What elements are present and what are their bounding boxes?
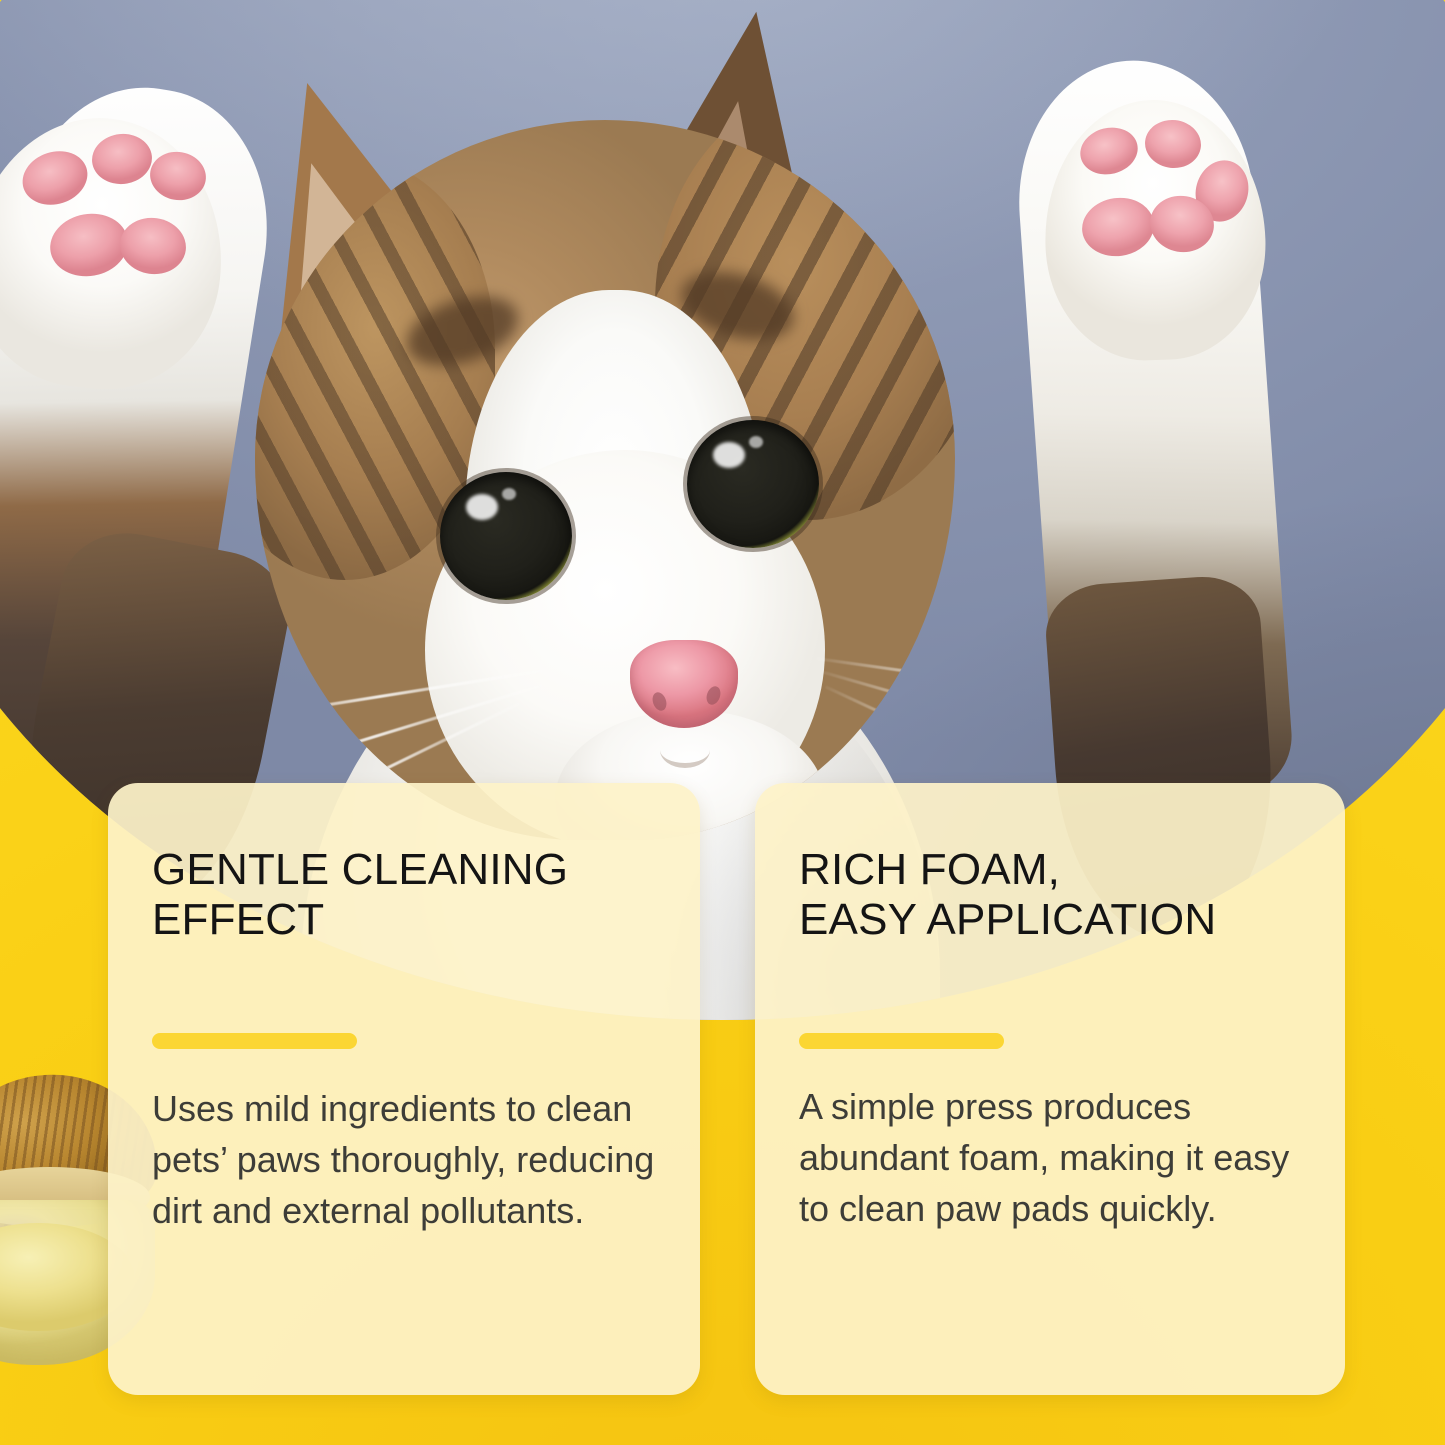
feature-card-title: GENTLE CLEANING EFFECT bbox=[152, 845, 656, 945]
cat-left-eye bbox=[440, 472, 572, 600]
feature-card-rich-foam: RICH FOAM, EASY APPLICATION A simple pre… bbox=[755, 783, 1345, 1395]
cat-right-eye bbox=[687, 420, 819, 548]
feature-card-gentle-cleaning: GENTLE CLEANING EFFECT Uses mild ingredi… bbox=[108, 783, 700, 1395]
cat-head bbox=[255, 120, 955, 840]
feature-card-body: A simple press produces abundant foam, m… bbox=[799, 1081, 1307, 1234]
feature-card-title: RICH FOAM, EASY APPLICATION bbox=[799, 845, 1301, 945]
cat-whisker-right-1 bbox=[816, 657, 955, 706]
cat-mouth bbox=[660, 732, 710, 768]
product-feature-poster: GENTLE CLEANING EFFECT Uses mild ingredi… bbox=[0, 0, 1445, 1445]
accent-divider-bar bbox=[799, 1033, 1004, 1049]
accent-divider-bar bbox=[152, 1033, 357, 1049]
feature-card-body: Uses mild ingredients to clean pets’ paw… bbox=[152, 1083, 662, 1236]
